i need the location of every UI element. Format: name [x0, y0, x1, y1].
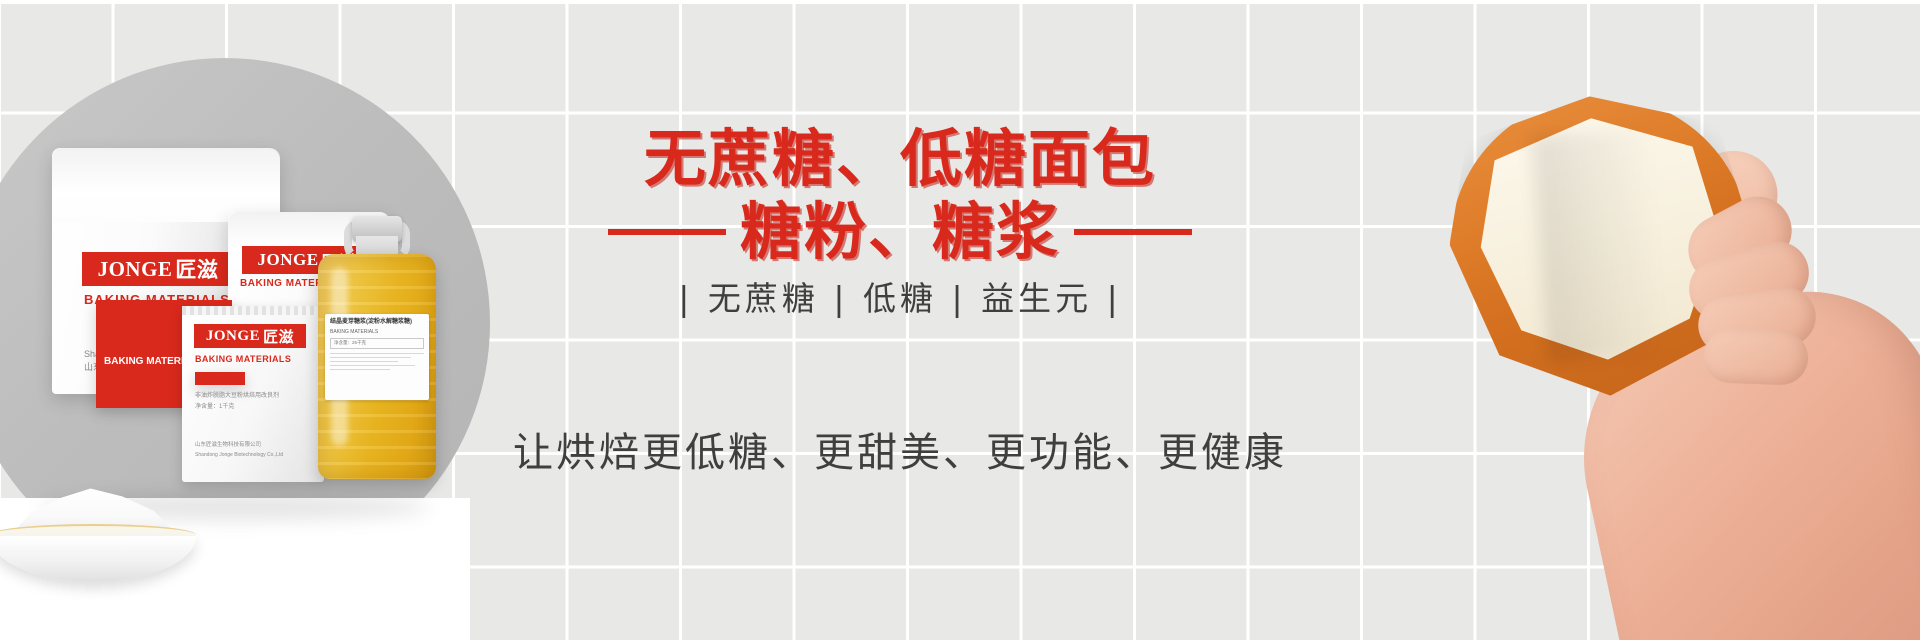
finger-4	[1703, 328, 1809, 386]
brand-name-en: JONGE	[206, 328, 260, 345]
sack-top-fold	[52, 148, 280, 222]
bowl-dish	[0, 536, 196, 582]
pouch-notch	[182, 306, 324, 315]
jug-label-textblock	[330, 353, 424, 371]
pouch-inner-red-strip	[195, 372, 245, 385]
bread-fold-shadow	[1532, 128, 1668, 364]
headline-line-2-row: 糖粉、糖浆	[520, 199, 1280, 264]
jug-label-title: 结晶麦芽糖浆(淀粉水解糖浆糖)	[330, 319, 424, 327]
brand-name-cn: 匠滋	[263, 326, 294, 347]
pouch-fineprint-1: 非油炸脱脂大豆粉烘焙用改良剂	[195, 392, 279, 400]
syrup-jug: 结晶麦芽糖浆(淀粉水解糖浆糖) BAKING MATERIALS 净含量：25千…	[318, 214, 436, 479]
headline-line-1: 无蔗糖、低糖面包	[520, 126, 1280, 191]
brand-name-en: JONGE	[98, 257, 173, 282]
jug-label: 结晶麦芽糖浆(淀粉水解糖浆糖) BAKING MATERIALS 净含量：25千…	[325, 314, 429, 400]
headline-line-2: 糖粉、糖浆	[740, 199, 1060, 264]
promo-banner: JONGE 匠滋 BAKING MATERIALS Shand 山东匠 JONG…	[0, 0, 1920, 640]
brand-name-en: JONGE	[257, 250, 318, 270]
pouch-fineprint-2: 净含量：1千克	[195, 403, 234, 411]
jug-label-sub: BAKING MATERIALS	[330, 329, 424, 335]
brand-name-cn: 匠滋	[175, 254, 218, 284]
brand-logo-bar: JONGE 匠滋	[194, 324, 306, 348]
headline-block: 无蔗糖、低糖面包 糖粉、糖浆 | 无蔗糖 | 低糖 | 益生元 | 让烘焙更低糖…	[520, 0, 1280, 640]
subtitle-tags: | 无蔗糖 | 低糖 | 益生元 |	[520, 272, 1280, 320]
rule-right-icon	[1074, 229, 1192, 235]
powder-bowl	[0, 486, 196, 582]
rule-left-icon	[608, 229, 726, 235]
headline-group: 无蔗糖、低糖面包 糖粉、糖浆	[520, 126, 1280, 264]
product-pouch: JONGE 匠滋 BAKING MATERIALS 非油炸脱脂大豆粉烘焙用改良剂…	[182, 306, 324, 482]
brand-logo-bar: JONGE 匠滋	[82, 252, 234, 286]
pouch-fineprint-3: 山东匠滋生物科技有限公司	[195, 442, 261, 449]
jug-label-netweight: 净含量：25千克	[330, 338, 424, 349]
pouch-fineprint-4: Shandong Jonge Biotechnology Co.,Ltd	[195, 452, 283, 459]
tagline: 让烘焙更低糖、更甜美、更功能、更健康	[496, 420, 1304, 478]
category-label: BAKING MATERIALS	[195, 354, 291, 364]
bread-photo	[1360, 0, 1920, 640]
